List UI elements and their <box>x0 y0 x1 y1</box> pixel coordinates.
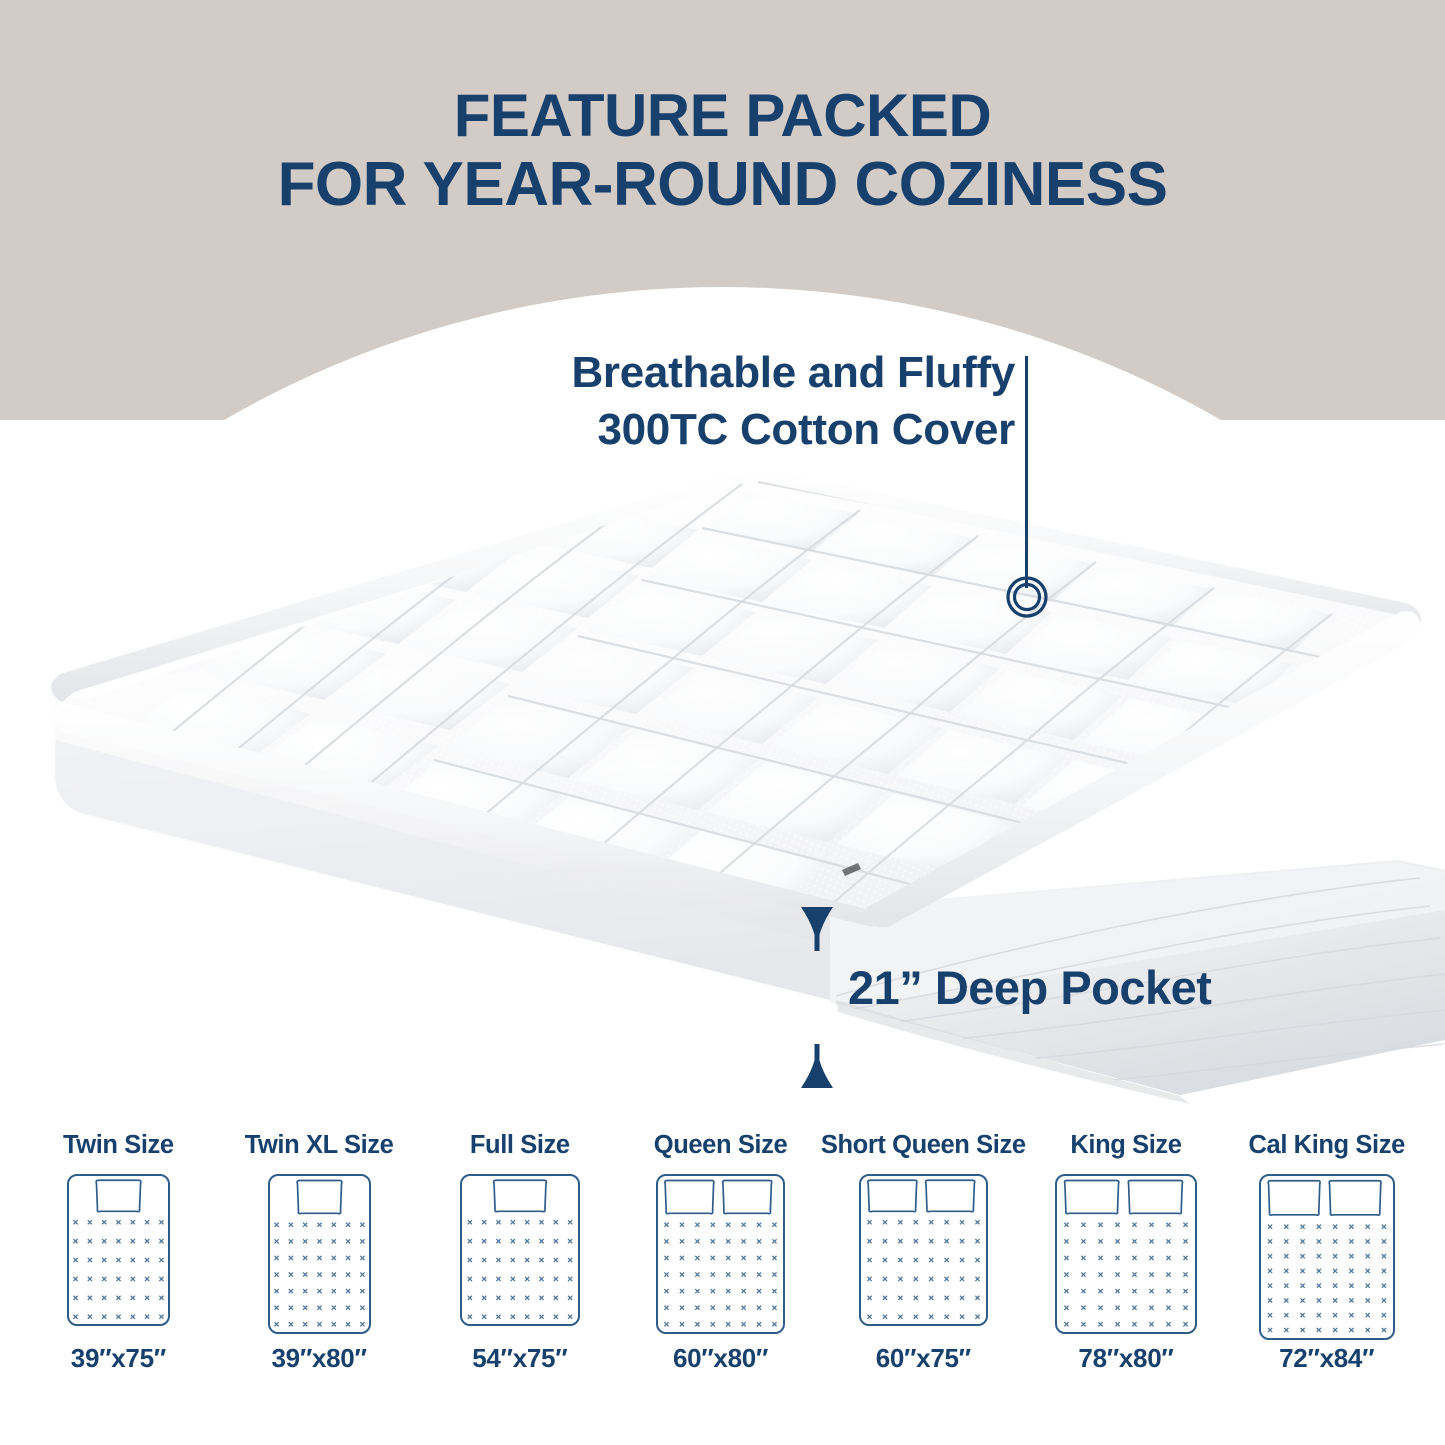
pillow-shape <box>868 1180 917 1211</box>
size-label: Short Queen Size <box>821 1128 1026 1162</box>
size-dimensions: 39″x75″ <box>71 1343 166 1374</box>
size-option-twin-size[interactable]: Twin Size39″x75″ <box>18 1128 219 1428</box>
page-title: FEATURE PACKED FOR YEAR-ROUND COZINESS <box>0 82 1445 220</box>
pillow-shape <box>665 1181 714 1214</box>
size-option-queen-size[interactable]: Queen Size60″x80″ <box>620 1128 821 1428</box>
pillow-shape <box>494 1180 547 1211</box>
cover-callout-line-1: Breathable and Fluffy <box>571 348 1015 397</box>
deep-pocket-label: 21” Deep Pocket <box>848 960 1211 1015</box>
pillow-shape <box>723 1181 772 1214</box>
bed-icon <box>1052 1171 1200 1337</box>
pillow-shape <box>96 1180 141 1211</box>
bed-icon <box>1256 1171 1398 1343</box>
size-option-cal-king-size[interactable]: Cal King Size72″x84″ <box>1226 1128 1427 1428</box>
size-dimensions: 60″x80″ <box>673 1343 768 1374</box>
size-label: Twin XL Size <box>245 1128 394 1162</box>
size-dimensions: 54″x75″ <box>472 1343 567 1374</box>
size-option-full-size[interactable]: Full Size54″x75″ <box>419 1128 620 1428</box>
bed-icon <box>653 1171 788 1337</box>
mattress-illustration <box>0 440 1445 1130</box>
target-ring-marker-icon <box>1005 575 1049 619</box>
pillow-shape <box>1065 1181 1119 1214</box>
size-option-king-size[interactable]: King Size78″x80″ <box>1026 1128 1227 1428</box>
size-label: Full Size <box>470 1128 570 1162</box>
headline-line-1: FEATURE PACKED <box>454 82 991 149</box>
size-label: Twin Size <box>63 1128 174 1162</box>
pillow-shape <box>1268 1181 1320 1215</box>
pillow-shape <box>1329 1181 1381 1215</box>
headline-line-2: FOR YEAR-ROUND COZINESS <box>0 150 1445 220</box>
size-label: Queen Size <box>654 1128 787 1162</box>
pillow-shape <box>1128 1181 1182 1214</box>
bed-icon <box>457 1171 583 1329</box>
size-option-short-queen-size[interactable]: Short Queen Size60″x75″ <box>821 1128 1026 1428</box>
size-dimensions: 72″x84″ <box>1279 1343 1374 1374</box>
bed-icon <box>64 1171 173 1329</box>
size-label: Cal King Size <box>1249 1128 1405 1162</box>
cover-callout-text: Breathable and Fluffy 300TC Cotton Cover <box>455 344 1015 458</box>
size-label: King Size <box>1070 1128 1181 1162</box>
pillow-shape <box>925 1180 974 1211</box>
size-dimensions: 78″x80″ <box>1078 1343 1173 1374</box>
size-option-twin-xl-size[interactable]: Twin XL Size39″x80″ <box>219 1128 420 1428</box>
size-chart: Twin Size39″x75″Twin XL Size39″x80″Full … <box>0 1128 1445 1428</box>
cover-callout-line-2: 300TC Cotton Cover <box>597 405 1015 454</box>
bed-icon <box>856 1171 991 1329</box>
size-dimensions: 60″x75″ <box>876 1343 971 1374</box>
product-image <box>0 440 1445 1130</box>
pillow-shape <box>297 1181 342 1214</box>
size-dimensions: 39″x80″ <box>272 1343 367 1374</box>
bed-icon <box>265 1171 374 1337</box>
cover-leader-line <box>1025 356 1028 588</box>
dimension-arrow-icon <box>795 905 839 1090</box>
